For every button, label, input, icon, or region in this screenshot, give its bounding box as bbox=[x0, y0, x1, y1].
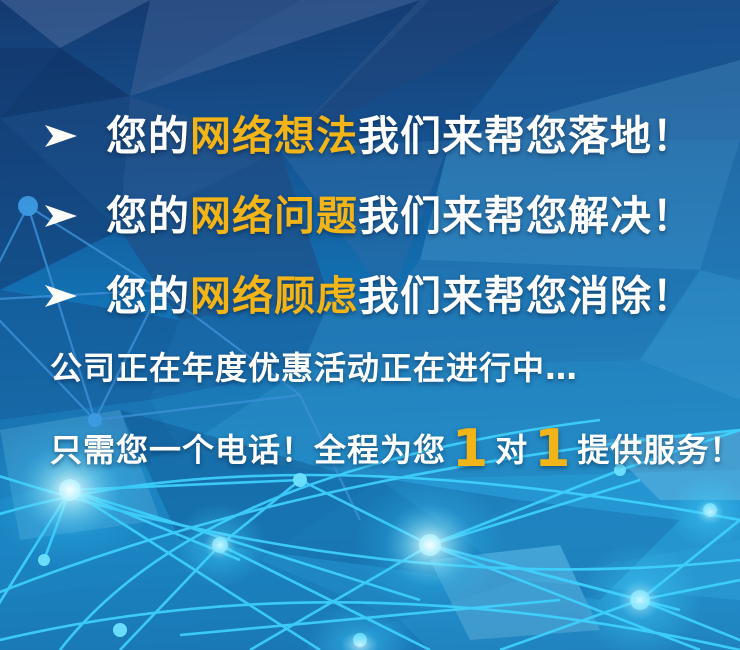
headline-prefix-2: 您的 bbox=[106, 192, 190, 240]
banner-content: 您的网络想法我们来帮您落地！ 您的网络问题我们来帮您解决！ 您的网络顾虑我们来帮… bbox=[0, 0, 740, 650]
headline-item-1: 您的网络想法我们来帮您落地！ bbox=[0, 96, 740, 176]
service-text-part2: 提供服务！ bbox=[577, 434, 740, 466]
service-text-middle: 对 bbox=[495, 434, 528, 466]
arrow-right-icon bbox=[44, 203, 78, 229]
promo-text: 公司正在年度优惠活动正在进行中… bbox=[0, 352, 740, 384]
arrow-right-icon bbox=[44, 283, 78, 309]
service-text: 只需您一个电话！全程为您 1 对 1 提供服务！ bbox=[0, 424, 740, 466]
headline-prefix-3: 您的 bbox=[106, 272, 190, 320]
headline-highlight-1: 网络想法 bbox=[190, 112, 358, 160]
service-number-1: 1 bbox=[446, 429, 495, 471]
headline-highlight-3: 网络顾虑 bbox=[190, 272, 358, 320]
headline-text-3: 您的网络顾虑我们来帮您消除！ bbox=[106, 276, 694, 317]
headline-suffix-3: 我们来帮您消除！ bbox=[358, 272, 694, 320]
headline-suffix-2: 我们来帮您解决！ bbox=[358, 192, 694, 240]
service-text-part1: 只需您一个电话！全程为您 bbox=[50, 434, 446, 466]
headline-prefix-1: 您的 bbox=[106, 112, 190, 160]
headline-text-1: 您的网络想法我们来帮您落地！ bbox=[106, 116, 694, 157]
subline-list: 公司正在年度优惠活动正在进行中… 只需您一个电话！全程为您 1 对 1 提供服务… bbox=[0, 352, 740, 466]
arrow-right-icon bbox=[44, 123, 78, 149]
headline-item-3: 您的网络顾虑我们来帮您消除！ bbox=[0, 256, 740, 336]
promo-banner: 您的网络想法我们来帮您落地！ 您的网络问题我们来帮您解决！ 您的网络顾虑我们来帮… bbox=[0, 0, 740, 650]
headline-text-2: 您的网络问题我们来帮您解决！ bbox=[106, 196, 694, 237]
headline-highlight-2: 网络问题 bbox=[190, 192, 358, 240]
headline-suffix-1: 我们来帮您落地！ bbox=[358, 112, 694, 160]
service-number-2: 1 bbox=[528, 429, 577, 471]
headline-list: 您的网络想法我们来帮您落地！ 您的网络问题我们来帮您解决！ 您的网络顾虑我们来帮… bbox=[0, 96, 740, 336]
headline-item-2: 您的网络问题我们来帮您解决！ bbox=[0, 176, 740, 256]
